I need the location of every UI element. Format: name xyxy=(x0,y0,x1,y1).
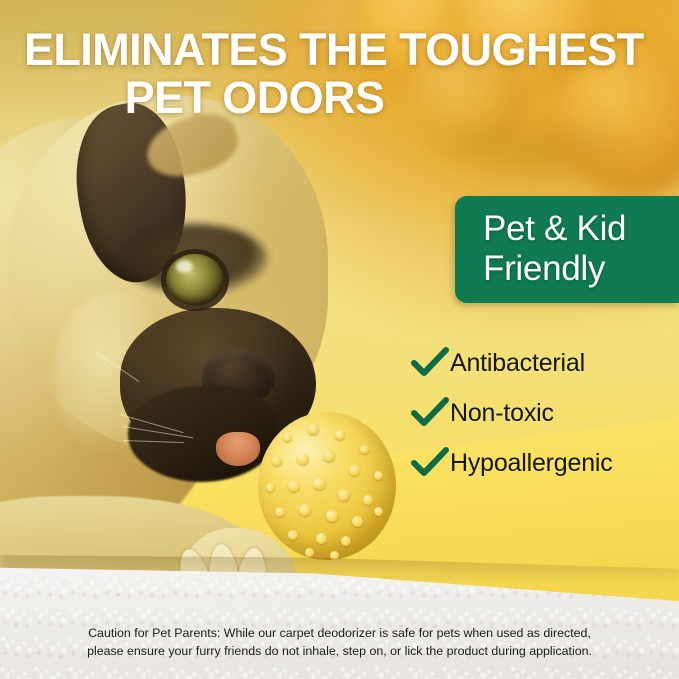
spiky-rubber-ball xyxy=(258,412,396,560)
promo-image: ELIMINATES THE TOUGHEST PET ODORS Pet & … xyxy=(0,0,679,679)
headline-line-2: PET ODORS xyxy=(24,74,655,122)
dog-jowl xyxy=(128,386,278,482)
check-icon xyxy=(410,347,450,379)
badge-label: Pet & Kid Friendly xyxy=(483,209,679,289)
check-icon xyxy=(410,397,450,429)
list-item: Antibacterial xyxy=(410,338,679,388)
check-icon xyxy=(410,447,450,479)
badge-line-1: Pet & Kid xyxy=(483,209,679,249)
caution-caption: Caution for Pet Parents: While our carpe… xyxy=(0,624,679,660)
feature-label: Antibacterial xyxy=(450,349,585,378)
dog-tongue xyxy=(216,432,260,466)
feature-label: Non-toxic xyxy=(450,399,554,428)
headline-line-1: ELIMINATES THE TOUGHEST xyxy=(24,26,655,74)
feature-label: Hypoallergenic xyxy=(450,449,613,478)
dog-eye xyxy=(166,254,224,306)
caption-line-1: Caution for Pet Parents: While our carpe… xyxy=(22,624,657,642)
feature-list: Antibacterial Non-toxic Hypoallergenic xyxy=(410,338,679,488)
status-badge: Pet & Kid Friendly xyxy=(455,196,679,303)
caption-line-2: please ensure your furry friends do not … xyxy=(22,642,657,660)
list-item: Hypoallergenic xyxy=(410,438,679,488)
list-item: Non-toxic xyxy=(410,388,679,438)
lemon-shadow xyxy=(430,112,660,190)
page-title: ELIMINATES THE TOUGHEST PET ODORS xyxy=(0,26,679,122)
dog-eye-glint xyxy=(176,260,193,273)
badge-line-2: Friendly xyxy=(483,249,679,289)
